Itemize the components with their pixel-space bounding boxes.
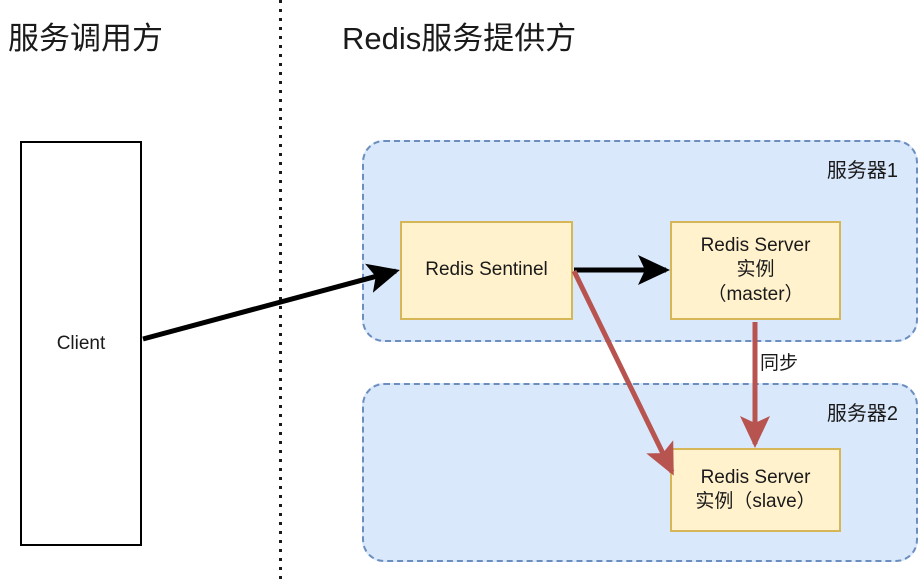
client-box: Client — [20, 141, 142, 546]
server-zone-2-label: 服务器2 — [827, 397, 898, 426]
diagram-canvas: 服务调用方 Redis服务提供方 Client 服务器1 服务器2 Redis … — [0, 0, 922, 584]
vertical-dotted-divider — [279, 0, 282, 584]
edge-label-sync: 同步 — [760, 348, 798, 375]
node-redis-server-master-line-1: Redis Server — [701, 234, 811, 258]
node-redis-sentinel: Redis Sentinel — [400, 221, 573, 320]
node-redis-server-master-line-3: （master） — [707, 283, 803, 307]
client-label: Client — [57, 333, 106, 355]
section-title-provider: Redis服务提供方 — [342, 23, 576, 54]
node-redis-server-slave-line-2: 实例（slave） — [695, 490, 815, 514]
node-redis-server-master: Redis Server 实例 （master） — [670, 221, 841, 320]
node-redis-server-slave-line-1: Redis Server — [701, 466, 811, 490]
node-redis-sentinel-line-1: Redis Sentinel — [425, 258, 548, 282]
server-zone-1-label: 服务器1 — [827, 154, 898, 183]
node-redis-server-master-line-2: 实例 — [736, 258, 774, 282]
node-redis-server-slave: Redis Server 实例（slave） — [670, 448, 841, 532]
section-title-consumer: 服务调用方 — [8, 23, 163, 54]
edge-client-to-sentinel — [143, 271, 396, 339]
